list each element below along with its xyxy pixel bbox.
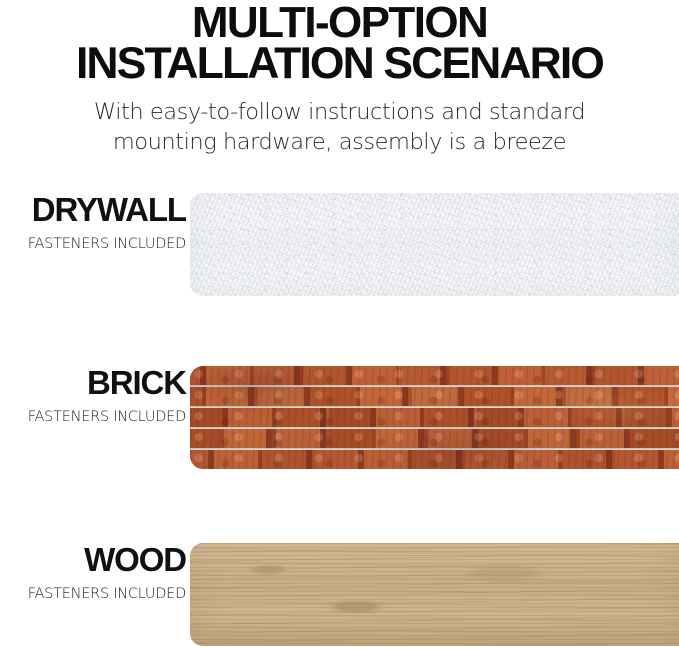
brick-labels: BRICK FASTENERS INCLUDED	[0, 366, 186, 425]
fasteners-note-drywall: FASTENERS INCLUDED	[0, 226, 186, 252]
page-subtitle-line-1: With easy-to-follow instructions and sta…	[0, 98, 679, 128]
wood-labels: WOOD FASTENERS INCLUDED	[0, 543, 186, 602]
section-drywall: DRYWALL FASTENERS INCLUDED	[0, 193, 679, 296]
section-wood: WOOD FASTENERS INCLUDED	[0, 543, 679, 646]
page-subtitle-line-2: mounting hardware, assembly is a breeze	[0, 128, 679, 158]
material-name-wood: WOOD	[0, 543, 186, 576]
header: MULTI-OPTION INSTALLATION SCENARIO With …	[0, 0, 679, 158]
section-brick: BRICK FASTENERS INCLUDED	[0, 366, 679, 469]
swatch-brick	[190, 366, 679, 469]
fasteners-note-wood: FASTENERS INCLUDED	[0, 576, 186, 602]
drywall-labels: DRYWALL FASTENERS INCLUDED	[0, 193, 186, 252]
page-title-line-1: MULTI-OPTION	[0, 2, 679, 43]
material-name-drywall: DRYWALL	[0, 193, 186, 226]
swatch-drywall	[190, 193, 679, 296]
fasteners-note-brick: FASTENERS INCLUDED	[0, 399, 186, 425]
swatch-wood	[190, 543, 679, 646]
material-name-brick: BRICK	[0, 366, 186, 399]
page-title-line-2: INSTALLATION SCENARIO	[0, 43, 679, 85]
